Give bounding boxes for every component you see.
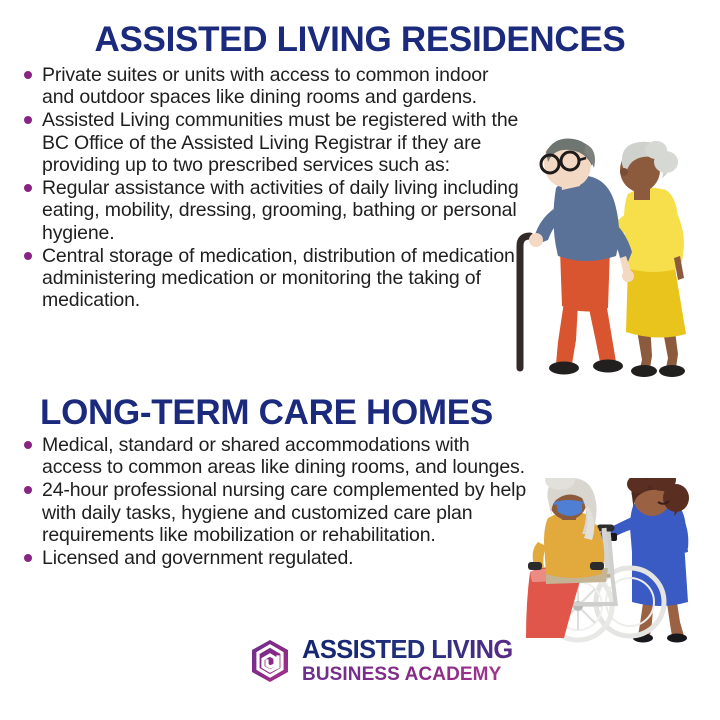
bullet-dot-icon [24,252,32,260]
list-item: Licensed and government regulated. [20,547,532,569]
bullet-dot-icon [24,486,32,494]
logo-line-assisted-living: ASSISTED LIVING [302,638,513,664]
list-item-text: Assisted Living communities must be regi… [42,109,520,176]
logo-line-business-academy: BUSINESS ACADEMY [302,665,513,684]
list-item-text: Central storage of medication, distribut… [42,245,520,312]
page-title-long-term-care-homes: LONG-TERM CARE HOMES [40,395,493,430]
list-item-text: Licensed and government regulated. [42,547,532,569]
list-item-text: 24-hour professional nursing care comple… [42,479,532,546]
logo-wordmark: ASSISTED LIVING BUSINESS ACADEMY [302,638,513,685]
brand-logo: ASSISTED LIVING BUSINESS ACADEMY [248,634,488,688]
list-item: Regular assistance with activities of da… [20,177,520,244]
bullet-list-long-term-care: Medical, standard or shared accommodatio… [20,434,532,570]
list-item: Central storage of medication, distribut… [20,245,520,312]
list-item: Private suites or units with access to c… [20,64,520,108]
bullet-dot-icon [24,554,32,562]
list-item-text: Medical, standard or shared accommodatio… [42,434,532,478]
list-item-text: Regular assistance with activities of da… [42,177,520,244]
list-item: 24-hour professional nursing care comple… [20,479,532,546]
hexagonal-spiral-logo-mark [248,639,292,683]
page-title-assisted-living-residences: ASSISTED LIVING RESIDENCES [0,22,720,57]
list-item: Assisted Living communities must be regi… [20,109,520,176]
list-item: Medical, standard or shared accommodatio… [20,434,532,478]
bullet-list-assisted-living: Private suites or units with access to c… [20,64,520,312]
caregiver-pushing-wheelchair-illustration [512,478,712,644]
elderly-couple-walking-illustration [516,128,712,380]
bullet-dot-icon [24,116,32,124]
bullet-dot-icon [24,441,32,449]
bullet-dot-icon [24,71,32,79]
list-item-text: Private suites or units with access to c… [42,64,520,108]
bullet-dot-icon [24,184,32,192]
infographic-canvas: ASSISTED LIVING RESIDENCES Private suite… [0,0,720,720]
